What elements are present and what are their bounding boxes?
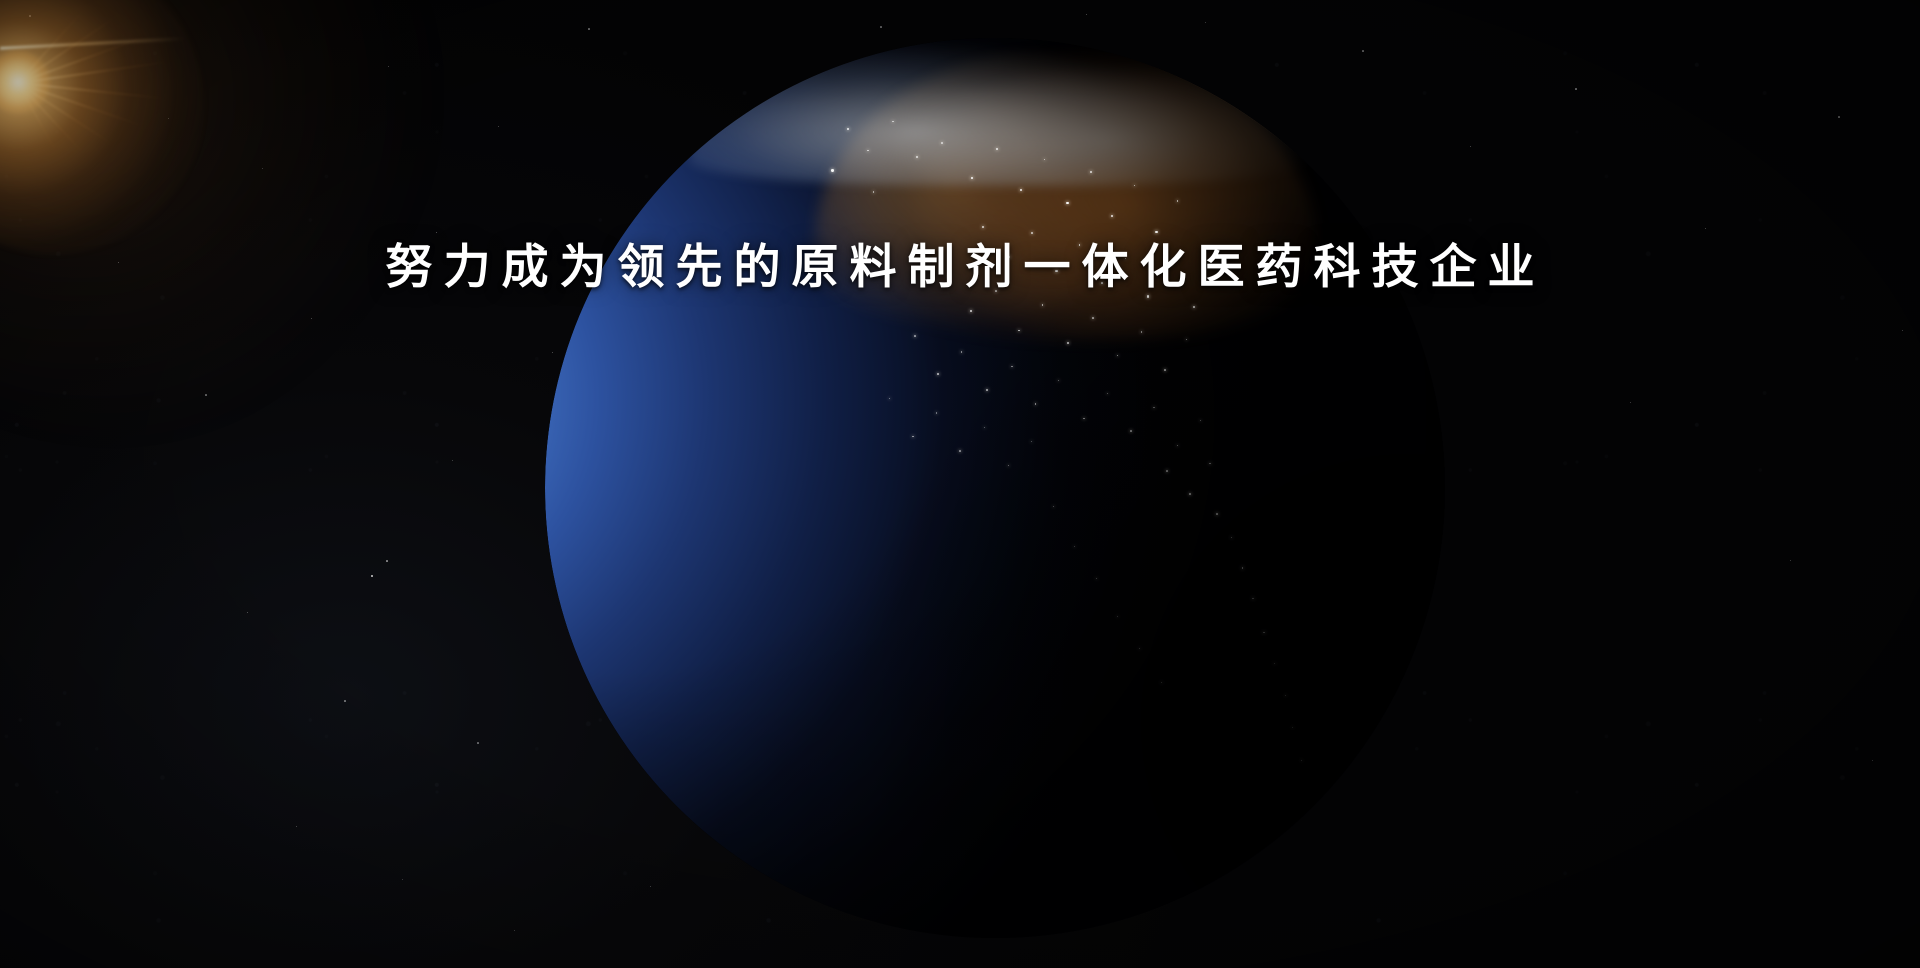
- hero-headline: 努力成为领先的原料制剂一体化医药科技企业: [375, 241, 1546, 296]
- headline-layer: 努力成为领先的原料制剂一体化医药科技企业: [0, 0, 1920, 968]
- hero-banner: 努力成为领先的原料制剂一体化医药科技企业: [0, 0, 1920, 968]
